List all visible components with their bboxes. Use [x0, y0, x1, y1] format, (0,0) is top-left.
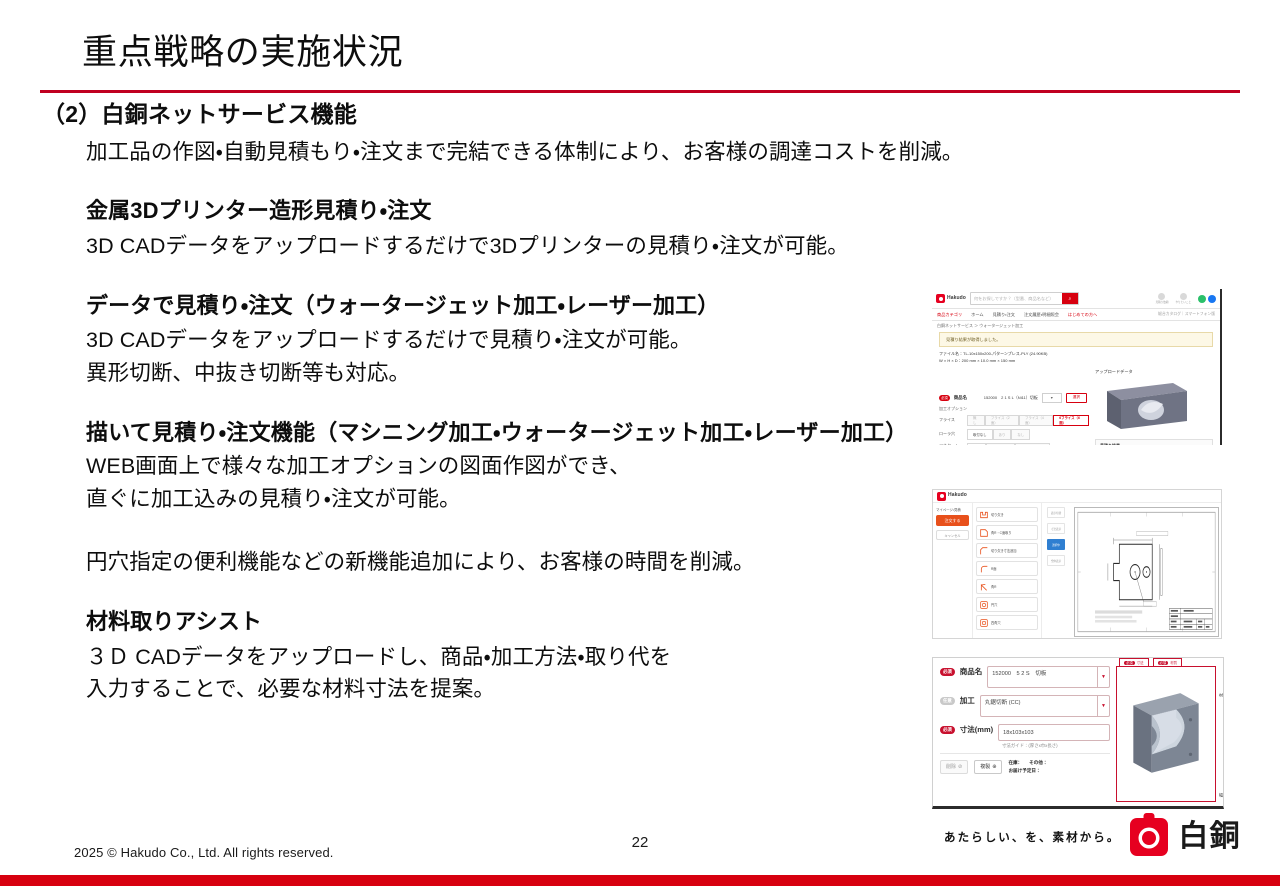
result-title: 見積り結果: [1100, 443, 1208, 445]
corner-tool-icon[interactable]: 角R・C面取り: [976, 525, 1038, 540]
uploaded-model-preview: [1095, 377, 1213, 435]
plate-model: [1117, 667, 1215, 801]
feature-line: 入力することで、必要な材料寸法を提案。: [86, 675, 932, 705]
file-info: ファイル名：TL-10x150x200-パターンプレス-PLY (24.90KB…: [932, 347, 1220, 365]
slide-root: 重点戦略の実施状況 （2）白銅ネットサービス機能 加工品の作図・自動見積もり・注…: [0, 0, 1280, 886]
feature-block-material-assist: 材料取りアシスト ３Ｄ CADデータをアップロードし、商品・加工方法・取り代を …: [86, 608, 932, 705]
nav-item[interactable]: 商品カテゴリ: [937, 312, 962, 318]
option-chip-selected[interactable]: 6フライス（6面）: [1053, 415, 1089, 426]
notice-banner: 見積り結果が取得しました。: [939, 332, 1213, 347]
nav-right-links[interactable]: 総合カタログ｜スマートフォン版: [1158, 312, 1215, 317]
option-chip[interactable]: ベベル形状: [986, 443, 1015, 445]
notch-tool-icon[interactable]: 切り欠き: [976, 507, 1038, 522]
feature-block-3d-printer: 金属3Dプリンター造形見積り・注文 3D CADデータをアップロードするだけで3…: [86, 197, 932, 261]
cad-sidebar: マイページ・見積 注文する キャンセル ヘルプ: [933, 503, 973, 639]
nav-item[interactable]: 見積り・注文: [993, 312, 1015, 318]
feature-line: WEB画面上で様々な加工オプションの図面作図ができ、: [86, 452, 932, 482]
drawing-sheet: [1074, 507, 1219, 637]
option-chip[interactable]: 面取り加工指定: [1015, 443, 1051, 445]
form-row-process: 任意 加工 丸鋸切断 (CC) ▼: [940, 695, 1110, 717]
chevron-down-icon[interactable]: ▼: [1097, 696, 1109, 716]
dimension-tool-icon[interactable]: 切り欠き寸法追加: [976, 543, 1038, 558]
cad-header: Hakudo: [933, 490, 1221, 503]
screenshot-cad-editor: Hakudo マイページ・見積 注文する キャンセル ヘルプ 切り欠き 角R・C…: [932, 489, 1222, 639]
feature-line: 直ぐに加工込みの見積り・注文が可能。: [86, 485, 932, 515]
account-links[interactable]: [1198, 295, 1216, 303]
product-row: 必須 商品名 152000 2 1 S L（Ni11）切板 ▼ 選択: [939, 393, 1089, 403]
preview-tab-material[interactable]: 必須 材質: [1153, 658, 1183, 666]
screenshot-quote-page: Hakudo 何をお探しですか？（型番、商品名など） ⌕ 見積り依頼 やりたいこ…: [932, 289, 1222, 445]
option-chip[interactable]: 無し: [967, 415, 985, 426]
logo-tagline: あたらしい、を、素材から。: [944, 829, 1120, 845]
logo-wordmark: 白銅: [1178, 822, 1240, 852]
process-select[interactable]: 丸鋸切断 (CC) ▼: [980, 695, 1110, 717]
trash-icon: ⊘: [958, 764, 962, 770]
section-heading: （2）白銅ネットサービス機能: [42, 100, 932, 129]
circle-hole-icon[interactable]: 円穴: [976, 597, 1038, 612]
select-button[interactable]: 選択: [1066, 393, 1087, 403]
chevron-down-icon[interactable]: ▼: [1097, 667, 1109, 687]
option-row-roller: ローラ穴 取付なし あり なし: [939, 429, 1089, 440]
view-toggle[interactable]: 寸法表示: [1047, 523, 1065, 534]
option-chip[interactable]: フライス（2面）: [985, 415, 1019, 426]
field-label: 商品名: [960, 666, 983, 677]
header-icon-group: 見積り依頼 やりたいこと: [1155, 293, 1216, 305]
option-chip[interactable]: 取付なし: [967, 429, 993, 440]
search-input[interactable]: 何をお探しですか？（型番、商品名など） ⌕: [970, 292, 1079, 305]
hakudo-logo-icon: Hakudo: [936, 294, 966, 303]
help-button[interactable]: ヘルプ: [936, 638, 969, 639]
dimension-label-width: 幅: [1218, 793, 1224, 797]
form-footer: 削除 ⊘ 複製 ⊕ 在庫： その他： お届け予定日：: [940, 759, 1110, 775]
feature-line: 異形切断、中抜き切断等も対応。: [86, 359, 932, 389]
dimension-label-height: 材: [1218, 693, 1224, 697]
hakudo-logo: あたらしい、を、素材から。 白銅: [944, 818, 1241, 856]
feature-block-data-quote: データで見積り・注文（ウォータージェット加工・レーザー加工） 3D CADデータ…: [86, 292, 932, 389]
feature-heading: 描いて見積り・注文機能（マシニング加工・ウォータージェット加工・レーザー加工）: [86, 419, 932, 447]
task-icon[interactable]: やりたいこと: [1175, 293, 1191, 305]
hakudo-logo-icon: Hakudo: [937, 492, 967, 501]
product-value: 152000 2 1 S L（Ni11）切板: [984, 395, 1038, 401]
option-row-connect: コネクート 仕様指定 平面 ベベル形状 面取り加工指定 ※コネクート加工・形状等…: [939, 443, 1089, 445]
quote-body: 必須 商品名 152000 2 1 S L（Ni11）切板 ▼ 選択 加工オプシ…: [932, 365, 1220, 445]
screenshot-material-assist: 必須 商品名 152000 5 2 S 切板 ▼ 任意 加工 丸鋸切断 (CC)…: [932, 657, 1224, 809]
material-form: 必須 商品名 152000 5 2 S 切板 ▼ 任意 加工 丸鋸切断 (CC)…: [940, 666, 1110, 802]
cad-tool-palette: 切り欠き 角R・C面取り 切り欠き寸法追加 R面 角R: [973, 503, 1042, 639]
search-icon[interactable]: ⌕: [1062, 293, 1078, 304]
feature-block-draw-quote: 描いて見積り・注文機能（マシニング加工・ウォータージェット加工・レーザー加工） …: [86, 419, 932, 578]
required-badge: 必須: [940, 726, 955, 734]
dimension-input[interactable]: 18x103x103: [998, 724, 1110, 741]
option-chip[interactable]: フライス（4面）: [1019, 415, 1053, 426]
cad-canvas[interactable]: [1070, 503, 1221, 639]
quote-icon[interactable]: 見積り依頼: [1155, 293, 1168, 305]
feature-heading: 金属3Dプリンター造形見積り・注文: [86, 197, 932, 226]
feature-line: ３Ｄ CADデータをアップロードし、商品・加工方法・取り代を: [86, 643, 932, 673]
chamfer-tool-icon[interactable]: 角R: [976, 579, 1038, 594]
required-badge: 必須: [940, 668, 955, 676]
breadcrumb: 白銅ネットサービス ＞ ウォータージェット加工: [932, 321, 1220, 331]
duplicate-button[interactable]: 複製 ⊕: [974, 760, 1002, 774]
product-name-select[interactable]: 152000 5 2 S 切板 ▼: [987, 666, 1110, 688]
product-label: 商品名: [954, 395, 980, 401]
optional-badge: 任意: [940, 697, 955, 705]
title-divider: [40, 90, 1240, 93]
square-hole-icon[interactable]: 四角穴: [976, 615, 1038, 630]
bottom-accent-bar: [0, 875, 1280, 886]
cad-view-toggles: 表示切替 寸法表示 選択中 全体表示: [1042, 503, 1070, 639]
copy-icon: ⊕: [992, 764, 996, 770]
quote-result-box: 見積り結果 商品コード 製品コード 加工内容 下記参照 数量 00.000 mm…: [1095, 439, 1213, 445]
section-lead: 加工品の作図・自動見積もり・注文まで完結できる体制により、お客様の調達コストを削…: [86, 138, 932, 168]
site-header: Hakudo 何をお探しですか？（型番、商品名など） ⌕ 見積り依頼 やりたいこ…: [932, 289, 1220, 309]
order-button[interactable]: 注文する: [936, 515, 969, 526]
field-label: 加工: [960, 695, 975, 706]
dimension-help: 寸法ガイド：(厚さx巾x長さ): [1002, 743, 1110, 749]
product-dropdown[interactable]: ▼: [1042, 393, 1062, 403]
site-nav[interactable]: 商品カテゴリ ホーム 見積り・注文 注文履歴・明細照会 はじめての方へ 総合カタ…: [932, 309, 1220, 321]
stock-meta: 在庫： その他： お届け予定日：: [1008, 759, 1047, 775]
option-chip[interactable]: 平面: [967, 443, 986, 445]
feature-line: 3D CADデータをアップロードするだけで見積り・注文が可能。: [86, 326, 932, 356]
view-toggle[interactable]: 全体表示: [1047, 555, 1065, 566]
nav-item[interactable]: 注文履歴・明細照会: [1024, 312, 1059, 318]
nav-item[interactable]: はじめての方へ: [1068, 312, 1097, 318]
feature-extra-line: 円穴指定の便利機能などの新機能追加により、お客様の時間を削減。: [86, 548, 932, 578]
feature-heading: 材料取りアシスト: [86, 608, 932, 637]
hakudo-mark-icon: [1130, 818, 1168, 856]
feature-line: 3D CADデータをアップロードするだけで3Dプリンターの見積り・注文が可能。: [86, 232, 932, 262]
option-title: 加工オプション: [939, 406, 1089, 412]
view-toggle-active[interactable]: 選択中: [1047, 539, 1065, 550]
page-title: 重点戦略の実施状況: [82, 24, 403, 75]
view-toggle[interactable]: 表示切替: [1047, 507, 1065, 518]
option-chip[interactable]: あり: [993, 429, 1012, 440]
material-3d-preview: 必須 寸法 必須 材質: [1116, 666, 1216, 802]
sidebar-label: マイページ・見積: [936, 507, 969, 512]
option-row-milling: フライス 無し フライス（2面） フライス（4面） 6フライス（6面）: [939, 415, 1089, 426]
option-chip[interactable]: なし: [1011, 429, 1030, 440]
cancel-button[interactable]: キャンセル: [936, 530, 969, 540]
arc-tool-icon[interactable]: R面: [976, 561, 1038, 576]
upload-data-label: アップロードデータ: [1095, 369, 1213, 375]
feature-heading: データで見積り・注文（ウォータージェット加工・レーザー加工）: [86, 292, 932, 321]
form-divider: [940, 753, 1110, 754]
required-badge: 必須: [939, 395, 950, 401]
form-row-dimension: 必須 寸法(mm) 18x103x103: [940, 724, 1110, 741]
nav-item[interactable]: ホーム: [971, 312, 983, 318]
preview-tab-dimension[interactable]: 必須 寸法: [1119, 658, 1149, 666]
preview-tabs: 必須 寸法 必須 材質: [1117, 658, 1215, 666]
slide-body: （2）白銅ネットサービス機能 加工品の作図・自動見積もり・注文まで完結できる体制…: [42, 100, 932, 705]
delete-button[interactable]: 削除 ⊘: [940, 760, 968, 774]
field-label: 寸法(mm): [960, 724, 993, 735]
form-row-product: 必須 商品名 152000 5 2 S 切板 ▼: [940, 666, 1110, 688]
